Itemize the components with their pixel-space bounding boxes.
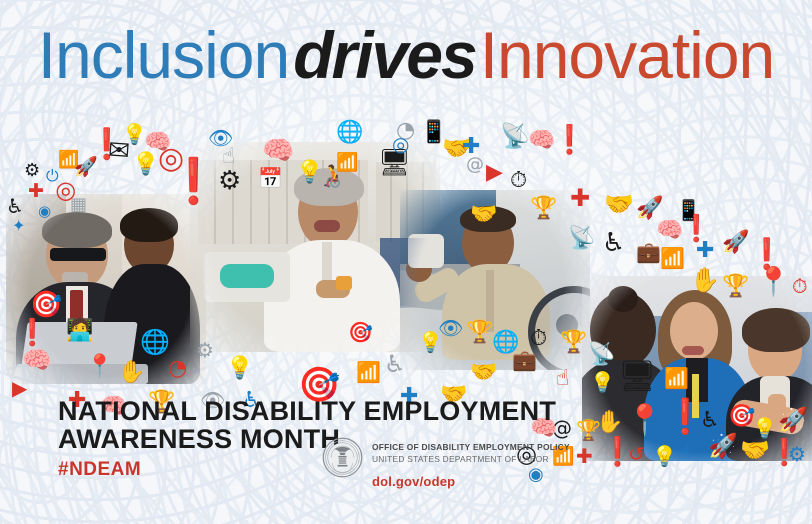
headline-word-inclusion: Inclusion: [38, 18, 290, 92]
photo-left: [6, 194, 206, 384]
headline-word-innovation: Innovation: [480, 18, 775, 92]
page-title: InclusiondrivesInnovation: [0, 22, 812, 88]
campaign-title-line1: NATIONAL DISABILITY EMPLOYMENT: [58, 398, 556, 426]
headline-word-drives: drives: [289, 18, 479, 92]
odep-url[interactable]: dol.gov/odep: [372, 474, 570, 489]
photo-wheelchair: [400, 190, 590, 370]
photo-collage: [0, 108, 812, 438]
photo-right: [582, 276, 812, 461]
agency-lockup: OFFICE OF DISABILITY EMPLOYMENT POLICY U…: [322, 437, 570, 489]
dol-seal-icon: [322, 437, 363, 478]
ndeam-poster: InclusiondrivesInnovation: [0, 0, 812, 524]
agency-name-line1: OFFICE OF DISABILITY EMPLOYMENT POLICY: [372, 442, 570, 452]
agency-name-line2: UNITED STATES DEPARTMENT OF LABOR: [372, 454, 570, 464]
